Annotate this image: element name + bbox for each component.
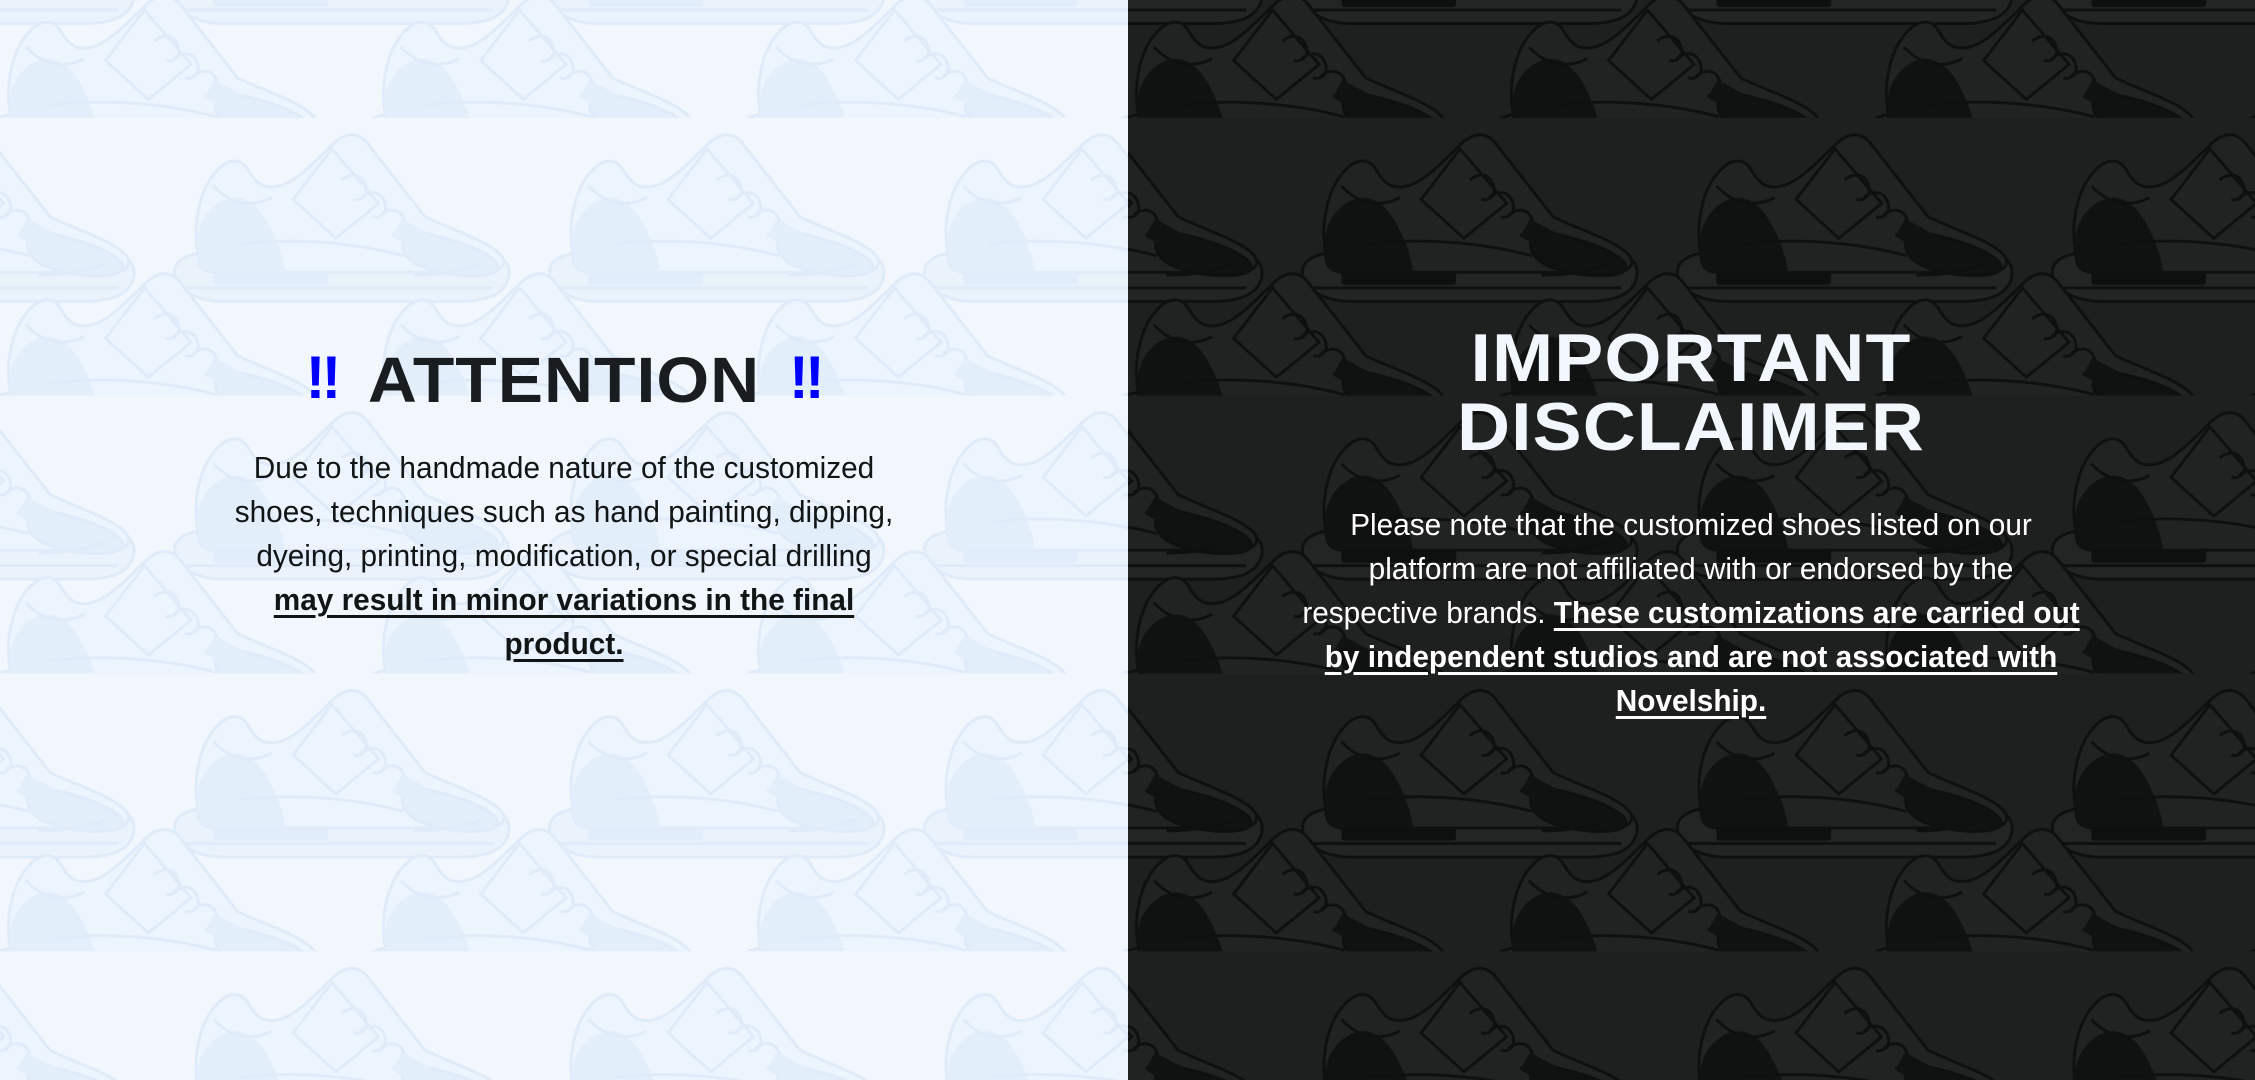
- disclaimer-heading: IMPORTANT DISCLAIMER: [1243, 324, 2139, 463]
- disclaimer-panel: IMPORTANT DISCLAIMER Please note that th…: [1128, 0, 2255, 1080]
- double-exclamation-icon-right: ‼: [789, 348, 822, 408]
- disclaimer-banner: ‼ ATTENTION ‼ Due to the handmade nature…: [0, 0, 2255, 1080]
- attention-content: ‼ ATTENTION ‼ Due to the handmade nature…: [0, 0, 1128, 1080]
- disclaimer-heading-line-2: DISCLAIMER: [1243, 393, 2139, 462]
- attention-body-plain: Due to the handmade nature of the custom…: [235, 450, 894, 573]
- disclaimer-heading-line-1: IMPORTANT: [1243, 324, 2139, 393]
- attention-body-emphasis: may result in minor variations in the fi…: [274, 582, 854, 661]
- double-exclamation-icon-left: ‼: [306, 348, 339, 408]
- disclaimer-body: Please note that the customized shoes li…: [1302, 503, 2080, 723]
- attention-heading: ‼ ATTENTION ‼: [145, 348, 982, 412]
- attention-body: Due to the handmade nature of the custom…: [228, 446, 900, 666]
- disclaimer-content: IMPORTANT DISCLAIMER Please note that th…: [1128, 0, 2255, 1080]
- attention-panel: ‼ ATTENTION ‼ Due to the handmade nature…: [0, 0, 1128, 1080]
- attention-heading-text: ATTENTION: [368, 348, 760, 412]
